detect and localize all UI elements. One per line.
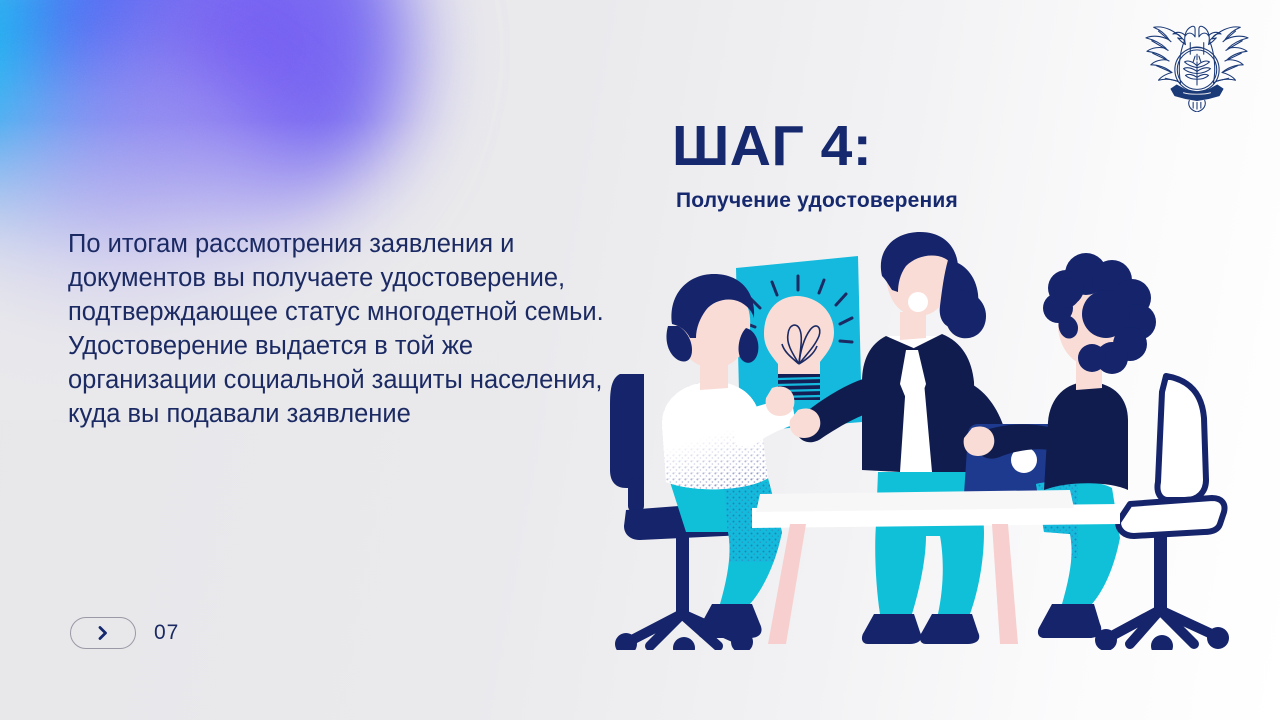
chevron-right-icon: [95, 625, 111, 641]
illustration-meeting-scene: [600, 232, 1260, 650]
double-headed-eagle-emblem: [1138, 8, 1256, 112]
heading-block: ШАГ 4: Получение удостоверения: [672, 118, 958, 213]
page-number: 07: [154, 621, 179, 645]
body-paragraph: По итогам рассмотрения заявления и докум…: [68, 228, 608, 431]
pager: 07: [70, 617, 179, 649]
page-title: ШАГ 4:: [672, 118, 958, 175]
slide-root: ШАГ 4: Получение удостоверения По итогам…: [0, 0, 1280, 720]
person-right-curly-hair: [964, 253, 1156, 638]
page-subtitle: Получение удостоверения: [676, 189, 958, 213]
next-slide-button[interactable]: [70, 617, 136, 649]
